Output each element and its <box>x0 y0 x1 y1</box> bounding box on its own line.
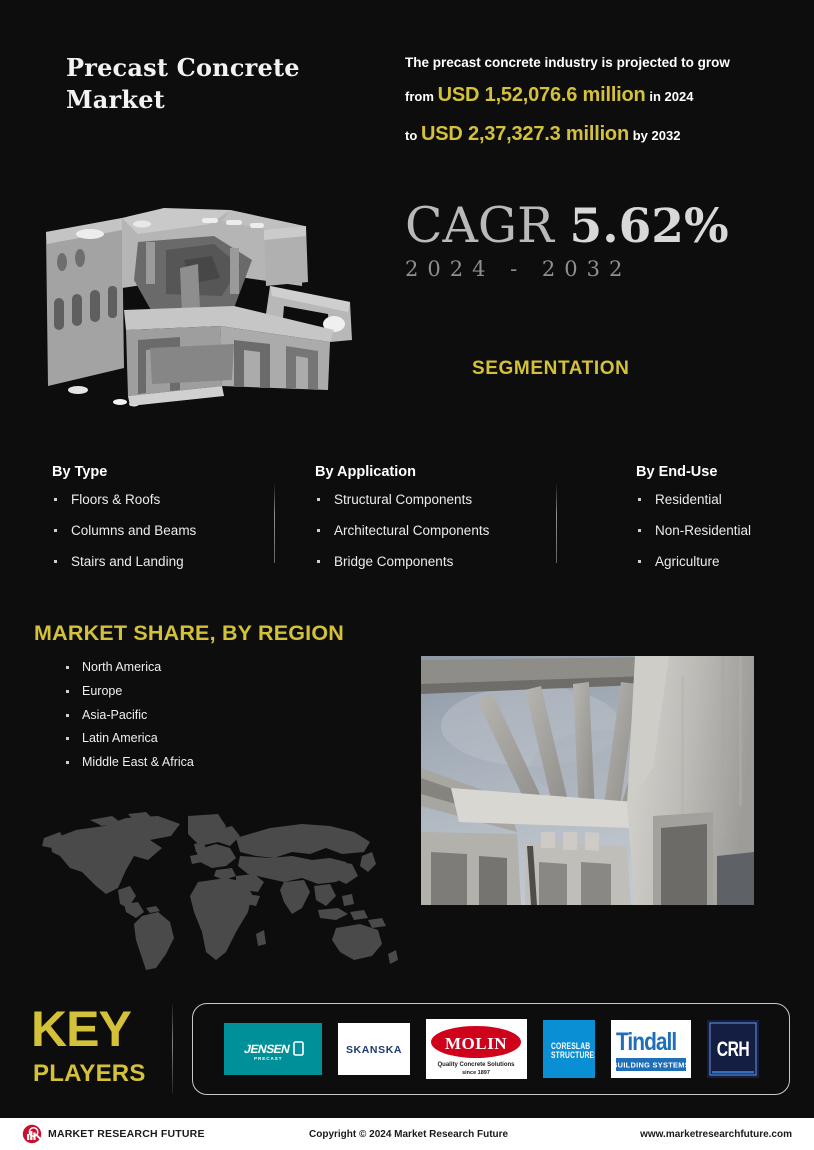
market-share-heading: MARKET SHARE, BY REGION <box>34 621 344 646</box>
market-research-future-logo-icon <box>22 1124 42 1144</box>
footer-brand: MARKET RESEARCH FUTURE <box>22 1124 205 1144</box>
list-item: Middle East & Africa <box>64 756 194 770</box>
footer-url[interactable]: www.marketresearchfuture.com <box>640 1129 792 1140</box>
list-item: Asia-Pacific <box>64 709 194 723</box>
footer-brand-text: MARKET RESEARCH FUTURE <box>48 1128 205 1140</box>
svg-text:JENSEN: JENSEN <box>242 1042 290 1056</box>
segmentation-column-by-end-use: By End-Use Residential Non-Residential A… <box>636 464 806 586</box>
list-item: Structural Components <box>315 493 545 508</box>
key-players-title-line2: PLAYERS <box>33 1062 146 1086</box>
key-players-title-line1: KEY <box>31 1004 131 1054</box>
list-item: Architectural Components <box>315 524 545 539</box>
segmentation-section: By Type Floors & Roofs Columns and Beams… <box>0 464 814 579</box>
cagr-label: CAGR <box>405 197 554 254</box>
segmentation-divider-2 <box>556 483 557 563</box>
logo-molin[interactable]: MOLIN Quality Concrete Solutions since 1… <box>426 1019 527 1079</box>
list-item: Floors & Roofs <box>52 493 267 508</box>
list-item: North America <box>64 661 194 675</box>
list-item: Bridge Components <box>315 555 545 570</box>
logo-coreslab-structures[interactable]: CORESLAB STRUCTURES <box>543 1020 595 1078</box>
cagr-year-range: 2024 - 2032 <box>405 257 765 281</box>
projection-to-year: by 2032 <box>633 128 681 143</box>
svg-text:SKANSKA: SKANSKA <box>345 1044 401 1056</box>
projection-from-label: from <box>405 89 434 104</box>
list-item: Stairs and Landing <box>52 555 267 570</box>
market-share-region-list: North America Europe Asia-Pacific Latin … <box>64 661 194 780</box>
logo-tindall-building-systems[interactable]: Tindall BUILDING SYSTEMS <box>611 1020 691 1078</box>
list-item: Residential <box>636 493 806 508</box>
cagr-headline: CAGR 5.62% <box>405 200 765 251</box>
precast-building-model-image <box>34 190 384 420</box>
projection-to-value: USD 2,37,327.3 million <box>421 123 629 145</box>
projection-from-year: in 2024 <box>649 89 693 104</box>
infographic-page: Precast Concrete Market The precast conc… <box>0 0 814 1150</box>
segmentation-list: Residential Non-Residential Agriculture <box>636 493 806 570</box>
segmentation-column-heading: By Type <box>52 464 267 480</box>
projection-line2: from USD 1,52,076.6 million in 2024 <box>405 76 765 115</box>
page-title: Precast Concrete Market <box>66 52 386 116</box>
segmentation-column-heading: By Application <box>315 464 545 480</box>
projection-statement: The precast concrete industry is project… <box>405 50 765 154</box>
key-players-logo-strip: JENSEN PRECAST SKANSKA MOLIN Quality Con… <box>192 1003 790 1095</box>
list-item: Latin America <box>64 732 194 746</box>
svg-text:Quality Concrete Solutions: Quality Concrete Solutions <box>437 1062 515 1068</box>
svg-text:MOLIN: MOLIN <box>445 1034 507 1053</box>
projection-from-value: USD 1,52,076.6 million <box>438 84 646 106</box>
list-item: Europe <box>64 685 194 699</box>
world-map-image <box>30 812 402 972</box>
list-item: Agriculture <box>636 555 806 570</box>
footer-bar: MARKET RESEARCH FUTURE Copyright © 2024 … <box>0 1118 814 1150</box>
projection-to-label: to <box>405 128 417 143</box>
svg-text:BUILDING SYSTEMS: BUILDING SYSTEMS <box>612 1061 690 1070</box>
key-players-divider <box>172 1004 173 1094</box>
segmentation-list: Structural Components Architectural Comp… <box>315 493 545 570</box>
svg-text:Tindall: Tindall <box>616 1027 676 1055</box>
list-item: Non-Residential <box>636 524 806 539</box>
footer-copyright: Copyright © 2024 Market Research Future <box>309 1129 508 1140</box>
precast-architecture-photo <box>421 656 754 905</box>
segmentation-heading: SEGMENTATION <box>472 358 629 380</box>
svg-text:PRECAST: PRECAST <box>254 1056 283 1061</box>
svg-text:since 1897: since 1897 <box>462 1070 490 1076</box>
cagr-value: 5.62% <box>570 199 729 254</box>
segmentation-list: Floors & Roofs Columns and Beams Stairs … <box>52 493 267 570</box>
svg-text:CRH: CRH <box>716 1037 749 1061</box>
logo-crh[interactable]: CRH <box>707 1020 759 1078</box>
projection-line1: The precast concrete industry is project… <box>405 50 765 76</box>
segmentation-column-heading: By End-Use <box>636 464 806 480</box>
projection-line3: to USD 2,37,327.3 million by 2032 <box>405 115 765 154</box>
cagr-block: CAGR 5.62% 2024 - 2032 <box>405 200 765 281</box>
logo-jensen-precast[interactable]: JENSEN PRECAST <box>224 1023 322 1075</box>
logo-skanska[interactable]: SKANSKA <box>338 1023 410 1075</box>
svg-text:STRUCTURES: STRUCTURES <box>551 1050 595 1060</box>
segmentation-column-by-application: By Application Structural Components Arc… <box>315 464 545 586</box>
segmentation-column-by-type: By Type Floors & Roofs Columns and Beams… <box>52 464 267 586</box>
segmentation-divider-1 <box>274 483 275 563</box>
list-item: Columns and Beams <box>52 524 267 539</box>
